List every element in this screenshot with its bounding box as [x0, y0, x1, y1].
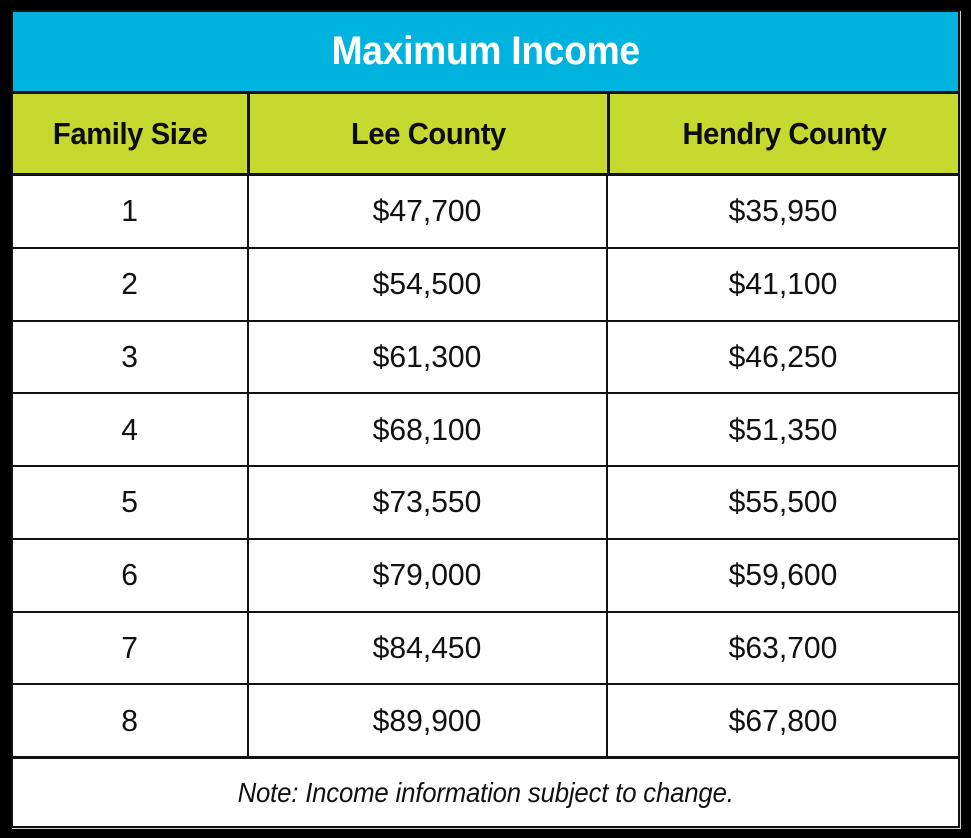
table-header-row: Family Size Lee County Hendry County: [13, 94, 958, 176]
cell-hendry-county: $46,250: [608, 322, 958, 393]
cell-lee-county: $79,000: [249, 540, 606, 611]
cell-lee-county-value: $54,500: [373, 266, 482, 302]
table-row: 3 $61,300 $46,250: [13, 322, 958, 395]
table-row: 2 $54,500 $41,100: [13, 249, 958, 322]
cell-lee-county: $84,450: [249, 613, 606, 684]
table-row: 8 $89,900 $67,800: [13, 685, 958, 758]
cell-family-size-value: 6: [122, 557, 139, 593]
page-title: Maximum Income: [331, 29, 639, 74]
cell-lee-county-value: $79,000: [373, 557, 482, 593]
cell-family-size: 1: [13, 176, 247, 247]
column-header-hendry-county-label: Hendry County: [682, 116, 886, 152]
cell-family-size-value: 3: [122, 339, 139, 375]
table-row: 1 $47,700 $35,950: [13, 176, 958, 249]
cell-hendry-county-value: $41,100: [729, 266, 838, 302]
cell-lee-county-value: $84,450: [373, 630, 482, 666]
cell-hendry-county: $67,800: [608, 685, 958, 756]
cell-family-size: 5: [13, 467, 247, 538]
cell-family-size: 7: [13, 613, 247, 684]
cell-family-size-value: 5: [122, 484, 139, 520]
cell-hendry-county: $59,600: [608, 540, 958, 611]
table-title-bar: Maximum Income: [13, 12, 958, 94]
cell-lee-county: $61,300: [249, 322, 606, 393]
footnote-text: Note: Income information subject to chan…: [237, 777, 733, 809]
table-row: 4 $68,100 $51,350: [13, 394, 958, 467]
cell-lee-county-value: $89,900: [373, 703, 482, 739]
column-header-lee-county-label: Lee County: [351, 116, 506, 152]
cell-family-size-value: 7: [122, 630, 139, 666]
cell-lee-county: $89,900: [249, 685, 606, 756]
cell-hendry-county-value: $35,950: [729, 193, 838, 229]
column-header-hendry-county: Hendry County: [610, 94, 958, 173]
cell-hendry-county: $63,700: [608, 613, 958, 684]
table-row: 5 $73,550 $55,500: [13, 467, 958, 540]
cell-lee-county: $54,500: [249, 249, 606, 320]
cell-hendry-county-value: $51,350: [729, 412, 838, 448]
cell-lee-county: $47,700: [249, 176, 606, 247]
cell-hendry-county-value: $46,250: [729, 339, 838, 375]
cell-lee-county-value: $61,300: [373, 339, 482, 375]
cell-lee-county-value: $47,700: [373, 193, 482, 229]
cell-hendry-county-value: $63,700: [729, 630, 838, 666]
table-body: 1 $47,700 $35,950 2 $54,500 $41,100 3 $6…: [13, 176, 958, 758]
cell-lee-county: $68,100: [249, 394, 606, 465]
cell-family-size-value: 8: [122, 703, 139, 739]
income-table: Maximum Income Family Size Lee County He…: [11, 10, 960, 828]
column-header-family-size: Family Size: [13, 94, 247, 173]
table-footnote-row: Note: Income information subject to chan…: [13, 758, 958, 826]
cell-family-size: 6: [13, 540, 247, 611]
cell-hendry-county: $55,500: [608, 467, 958, 538]
column-header-family-size-label: Family Size: [53, 116, 208, 152]
cell-family-size: 8: [13, 685, 247, 756]
cell-hendry-county-value: $67,800: [729, 703, 838, 739]
cell-family-size: 2: [13, 249, 247, 320]
table-row: 6 $79,000 $59,600: [13, 540, 958, 613]
cell-family-size-value: 4: [122, 412, 139, 448]
cell-hendry-county: $35,950: [608, 176, 958, 247]
outer-frame: Maximum Income Family Size Lee County He…: [0, 0, 971, 838]
cell-lee-county-value: $68,100: [373, 412, 482, 448]
cell-hendry-county-value: $55,500: [729, 484, 838, 520]
cell-lee-county: $73,550: [249, 467, 606, 538]
cell-family-size: 4: [13, 394, 247, 465]
cell-hendry-county: $41,100: [608, 249, 958, 320]
cell-family-size-value: 1: [122, 193, 139, 229]
table-row: 7 $84,450 $63,700: [13, 613, 958, 686]
column-header-lee-county: Lee County: [250, 94, 607, 173]
cell-lee-county-value: $73,550: [373, 484, 482, 520]
cell-hendry-county: $51,350: [608, 394, 958, 465]
cell-family-size: 3: [13, 322, 247, 393]
cell-family-size-value: 2: [122, 266, 139, 302]
cell-hendry-county-value: $59,600: [729, 557, 838, 593]
